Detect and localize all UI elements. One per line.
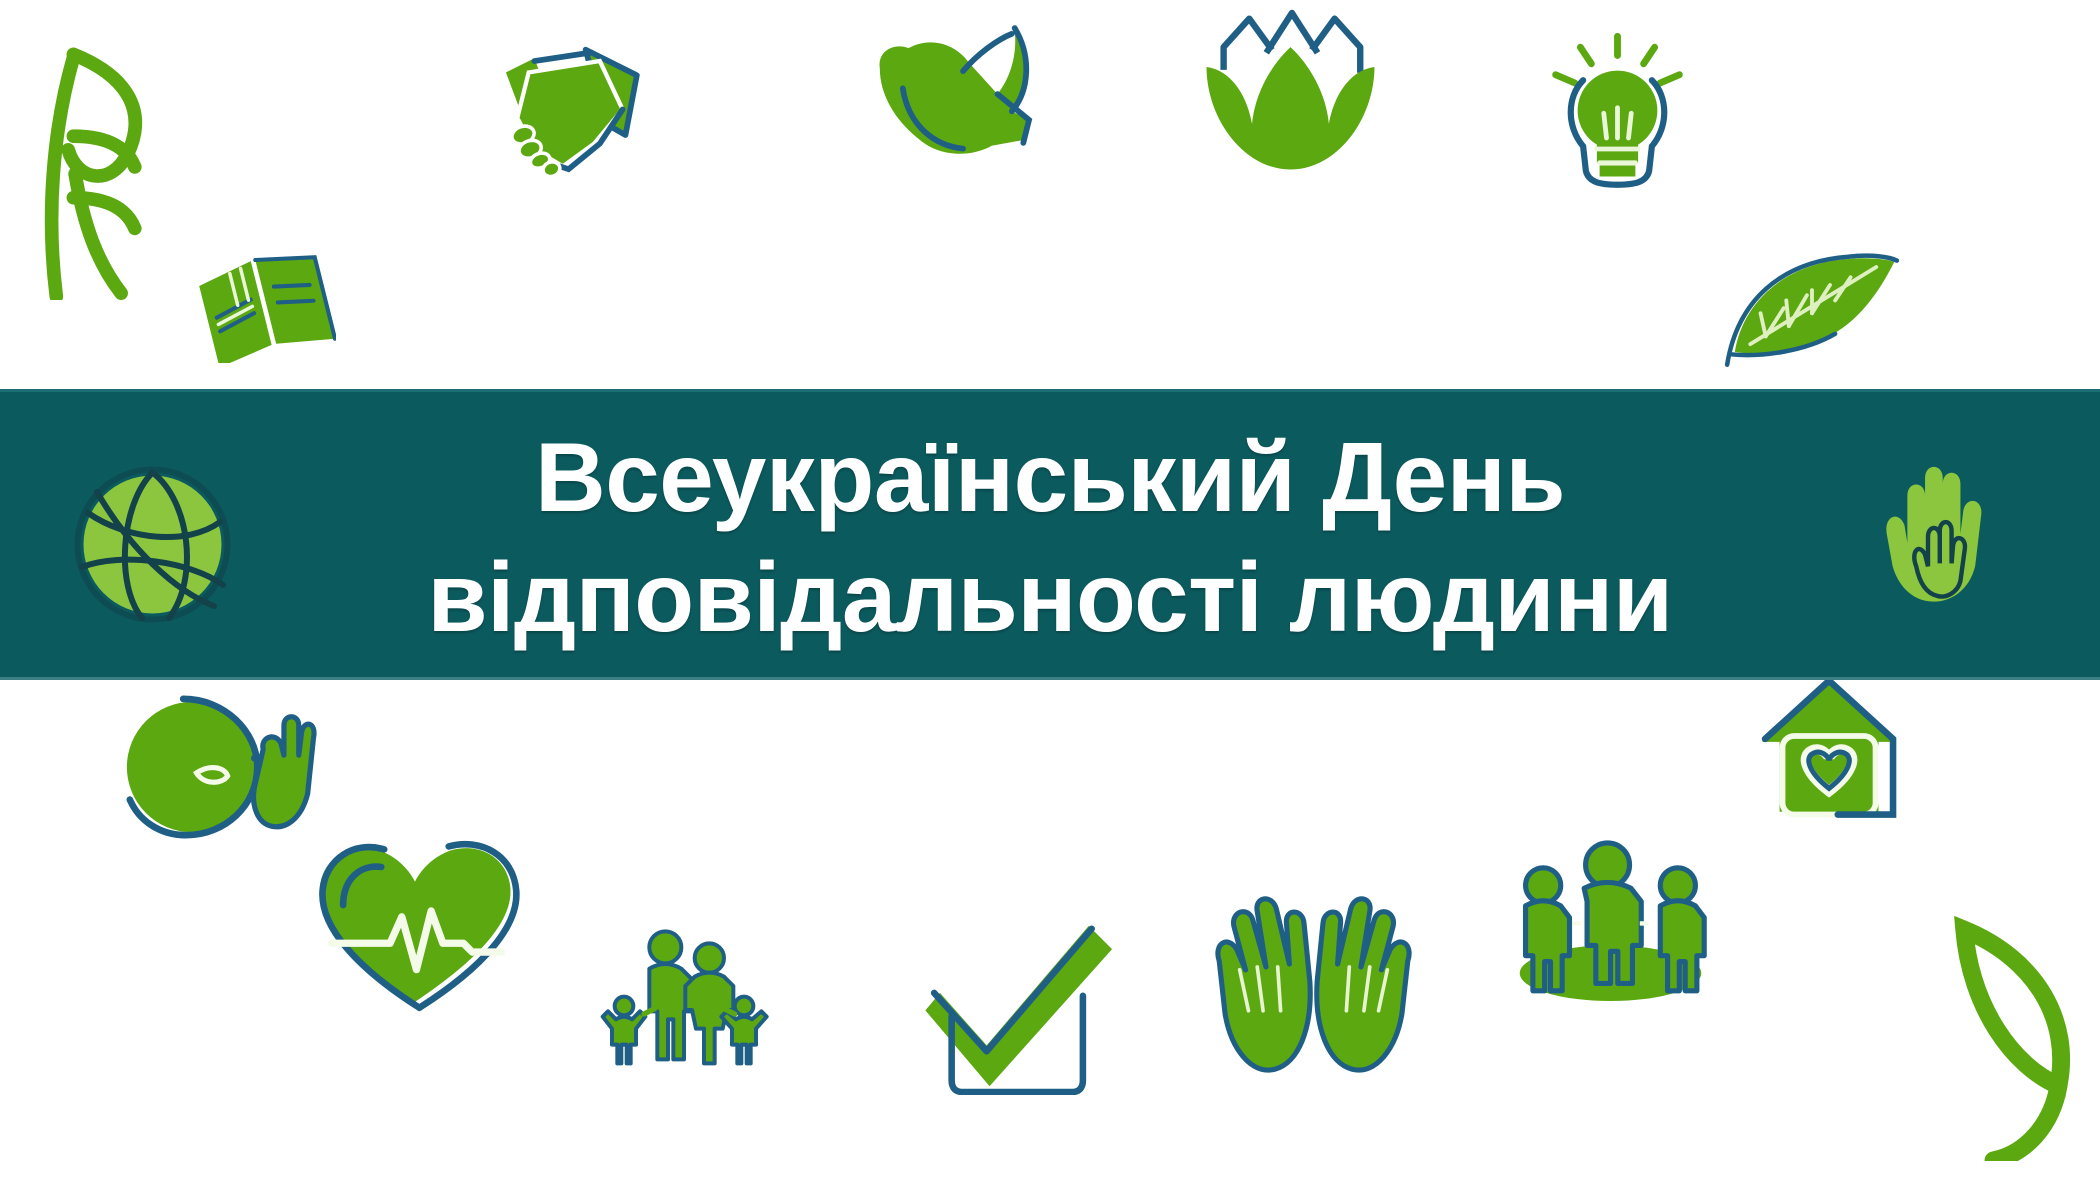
dove-icon xyxy=(858,8,1048,173)
face-hand-icon xyxy=(118,680,318,860)
hand-in-hand-icon xyxy=(1872,444,2012,609)
sprout-icon xyxy=(20,10,195,300)
globe-icon xyxy=(70,462,235,627)
family-icon xyxy=(596,926,776,1066)
title-line-2: відповідальності людини xyxy=(427,538,1672,658)
leaf-outline-icon xyxy=(1948,916,2078,1161)
page-title: Всеукраїнський День відповідальності люд… xyxy=(0,392,2100,683)
book-icon xyxy=(196,243,336,363)
house-heart-icon xyxy=(1748,672,1913,832)
lotus-icon xyxy=(1198,8,1383,183)
poster-canvas: Всеукраїнський День відповідальності люд… xyxy=(0,0,2100,1182)
title-banner: Всеукраїнський День відповідальності люд… xyxy=(0,389,2100,680)
title-line-1: Всеукраїнський День xyxy=(535,418,1565,538)
handshake-icon xyxy=(486,28,671,188)
lightbulb-icon xyxy=(1540,28,1695,193)
heart-pulse-icon xyxy=(305,828,525,1013)
leaf-icon xyxy=(1722,238,1902,368)
community-group-icon xyxy=(1508,838,1713,1003)
checkmark-icon xyxy=(918,920,1118,1095)
caring-hands-icon xyxy=(1206,888,1421,1078)
